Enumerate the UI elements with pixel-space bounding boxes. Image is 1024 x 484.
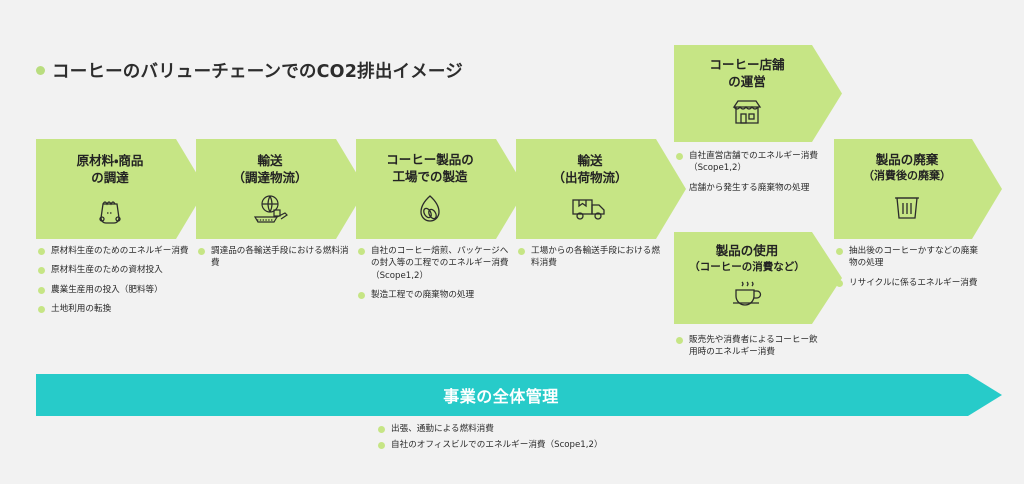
stage-raw-materials: 原材料・商品 の調達 (36, 139, 206, 239)
band-bullets: 出張、通勤による燃料消費 自社のオフィスビルでのエネルギー消費（Scope1,2… (378, 423, 798, 452)
stage-product-use: 製品の使用 （コーヒーの消費など） (674, 232, 842, 324)
bullet-dot-icon (518, 248, 525, 255)
bullet-dot-icon (38, 306, 45, 313)
list-item: 自社直営店舗でのエネルギー消費（Scope1,2） (676, 150, 824, 175)
list-item: 店舗から発生する廃棄物の処理 (676, 182, 824, 194)
list-item: 自社のオフィスビルでのエネルギー消費（Scope1,2） (378, 439, 798, 451)
bullet-dot-icon (676, 337, 683, 344)
stage-bullets-product-use: 販売先や消費者によるコーヒー飲用時のエネルギー消費 (676, 334, 824, 366)
stage-store-operation: コーヒー店舗 の運営 (674, 45, 842, 142)
stage-bullets-transport-inbound: 調達品の各輸送手段における燃料消費 (198, 245, 353, 277)
bullet-dot-icon (836, 280, 843, 287)
list-item: 土地利用の転換 (38, 303, 198, 315)
ship-plane-icon (250, 193, 290, 225)
stage-subtitle: の運営 (728, 74, 766, 91)
list-item: 自社のコーヒー焙煎、パッケージへの封入等の工程でのエネルギー消費（Scope1,… (358, 245, 510, 282)
stage-subtitle: （調達物流） (232, 170, 307, 187)
bullet-dot-icon (38, 267, 45, 274)
delivery-truck-icon (570, 193, 610, 223)
stage-title: コーヒー製品の (386, 152, 474, 169)
stage-subtitle: （コーヒーの消費など） (689, 260, 805, 274)
trash-bin-icon (892, 190, 922, 222)
dot-icon (36, 66, 45, 75)
stage-transport-outbound: 輸送 （出荷物流） (516, 139, 686, 239)
bullet-dot-icon (198, 248, 205, 255)
roast-bean-flame-icon (414, 192, 446, 226)
overall-management-band: 事業の全体管理 (36, 374, 1002, 416)
stage-subtitle: の調達 (91, 170, 129, 187)
page-title: コーヒーのバリューチェーンでのCO2排出イメージ (36, 58, 463, 83)
band-title: 事業の全体管理 (443, 383, 559, 407)
stage-subtitle: 工場での製造 (392, 169, 467, 186)
stage-title: コーヒー店舗 (709, 57, 784, 74)
stage-bullets-product-disposal: 抽出後のコーヒーかすなどの廃棄物の処理 リサイクルに係るエネルギー消費 (836, 245, 986, 296)
list-item: 原材料生産のための資材投入 (38, 264, 198, 276)
list-item: 出張、通勤による燃料消費 (378, 423, 798, 435)
list-item: リサイクルに係るエネルギー消費 (836, 277, 986, 289)
storefront-icon (730, 97, 764, 127)
bullet-dot-icon (358, 292, 365, 299)
page-title-text: コーヒーのバリューチェーンでのCO2排出イメージ (52, 58, 463, 83)
stage-bullets-raw-materials: 原材料生産のためのエネルギー消費 原材料生産のための資材投入 農業生産用の投入（… (38, 245, 198, 323)
stage-bullets-transport-outbound: 工場からの各輸送手段における燃料消費 (518, 245, 668, 277)
bullet-dot-icon (836, 248, 843, 255)
stage-title: 製品の廃棄 (876, 152, 939, 169)
list-item: 調達品の各輸送手段における燃料消費 (198, 245, 353, 270)
list-item: 販売先や消費者によるコーヒー飲用時のエネルギー消費 (676, 334, 824, 359)
stage-transport-inbound: 輸送 （調達物流） (196, 139, 366, 239)
bullet-dot-icon (676, 185, 683, 192)
stage-title: 輸送 (257, 153, 282, 170)
list-item: 工場からの各輸送手段における燃料消費 (518, 245, 668, 270)
stage-bullets-manufacturing: 自社のコーヒー焙煎、パッケージへの封入等の工程でのエネルギー消費（Scope1,… (358, 245, 510, 309)
bullet-dot-icon (38, 248, 45, 255)
bullet-dot-icon (38, 287, 45, 294)
bullet-dot-icon (358, 248, 365, 255)
bullet-dot-icon (378, 426, 385, 433)
coffee-cup-icon (729, 278, 765, 308)
stage-manufacturing: コーヒー製品の 工場での製造 (356, 139, 526, 239)
stage-product-disposal: 製品の廃棄 （消費後の廃棄） (834, 139, 1002, 239)
list-item: 製造工程での廃棄物の処理 (358, 289, 510, 301)
stage-title: 原材料・商品 (77, 153, 144, 170)
stage-title: 製品の使用 (716, 243, 779, 260)
stage-bullets-store-operation: 自社直営店舗でのエネルギー消費（Scope1,2） 店舗から発生する廃棄物の処理 (676, 150, 824, 201)
list-item: 農業生産用の投入（肥料等） (38, 284, 198, 296)
stage-title: 輸送 (577, 153, 602, 170)
infographic-canvas: コーヒーのバリューチェーンでのCO2排出イメージ 原材料・商品 の調達 原材料生… (0, 0, 1024, 484)
sack-icon (93, 193, 127, 227)
list-item: 抽出後のコーヒーかすなどの廃棄物の処理 (836, 245, 986, 270)
bullet-dot-icon (378, 442, 385, 449)
bullet-dot-icon (676, 153, 683, 160)
stage-subtitle: （出荷物流） (552, 170, 627, 187)
stage-subtitle: （消費後の廃棄） (863, 169, 951, 184)
list-item: 原材料生産のためのエネルギー消費 (38, 245, 198, 257)
